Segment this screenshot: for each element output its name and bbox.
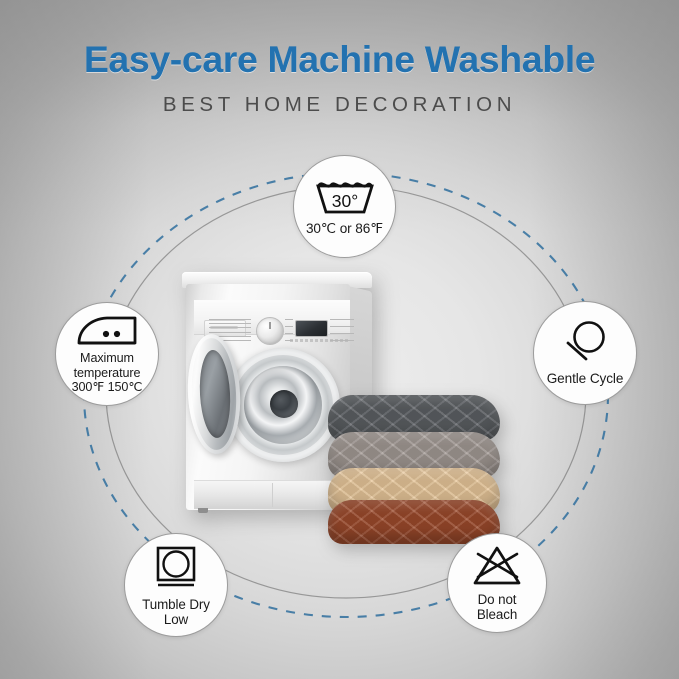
iron-label-line-1: Maximum: [80, 351, 134, 365]
iron-two-dots-icon: [73, 313, 141, 347]
program-dial: [256, 317, 284, 345]
care-badge-gentle-cycle[interactable]: Gentle Cycle: [533, 301, 637, 405]
care-badge-iron[interactable]: Maximum temperature 300℉ 150℃: [55, 302, 159, 406]
page-title: Easy-care Machine Washable: [0, 0, 679, 81]
bleach-label-line-2: Bleach: [477, 607, 517, 622]
tumble-label-line-2: Low: [164, 612, 188, 627]
care-badge-do-not-bleach[interactable]: Do not Bleach: [447, 533, 547, 633]
washer-porthole: [226, 348, 340, 462]
header: Easy-care Machine Washable BEST HOME DEC…: [0, 0, 679, 117]
stacked-quilted-blankets: [328, 395, 500, 543]
bleach-label-line-1: Do not: [478, 592, 517, 607]
control-labels-right: [330, 319, 354, 341]
washer-control-panel: [194, 300, 350, 335]
page-subtitle: BEST HOME DECORATION: [0, 81, 679, 117]
iron-label-line-3: 300℉ 150℃: [72, 380, 143, 394]
washer-brand-text: [290, 339, 350, 342]
care-badge-tumble-dry[interactable]: Tumble Dry Low: [124, 533, 228, 637]
care-badge-wash[interactable]: 30° 30℃ or 86℉: [293, 155, 396, 258]
iron-label-line-2: temperature: [74, 366, 141, 380]
do-not-bleach-triangle-icon: [471, 544, 523, 588]
wash-temp-value: 30°: [331, 191, 357, 211]
infographic-canvas: Easy-care Machine Washable BEST HOME DEC…: [0, 0, 679, 679]
gentle-cycle-circle-icon: [556, 319, 614, 365]
care-badge-tumble-dry-label: Tumble Dry Low: [142, 597, 210, 627]
care-badge-wash-label: 30℃ or 86℉: [306, 221, 383, 237]
tumble-dry-low-icon: [152, 544, 200, 592]
tumble-label-line-1: Tumble Dry: [142, 597, 210, 612]
washer-drum: [244, 366, 322, 444]
care-badge-iron-label: Maximum temperature 300℉ 150℃: [72, 351, 143, 395]
care-badge-gentle-cycle-label: Gentle Cycle: [547, 371, 624, 387]
lcd-display: [295, 320, 328, 337]
control-labels-mid: [285, 319, 293, 341]
wash-tub-30-icon: 30°: [314, 176, 376, 216]
washer-foot-left: [198, 508, 208, 513]
care-badge-do-not-bleach-label: Do not Bleach: [477, 592, 517, 623]
washer-plinth: [194, 480, 350, 509]
